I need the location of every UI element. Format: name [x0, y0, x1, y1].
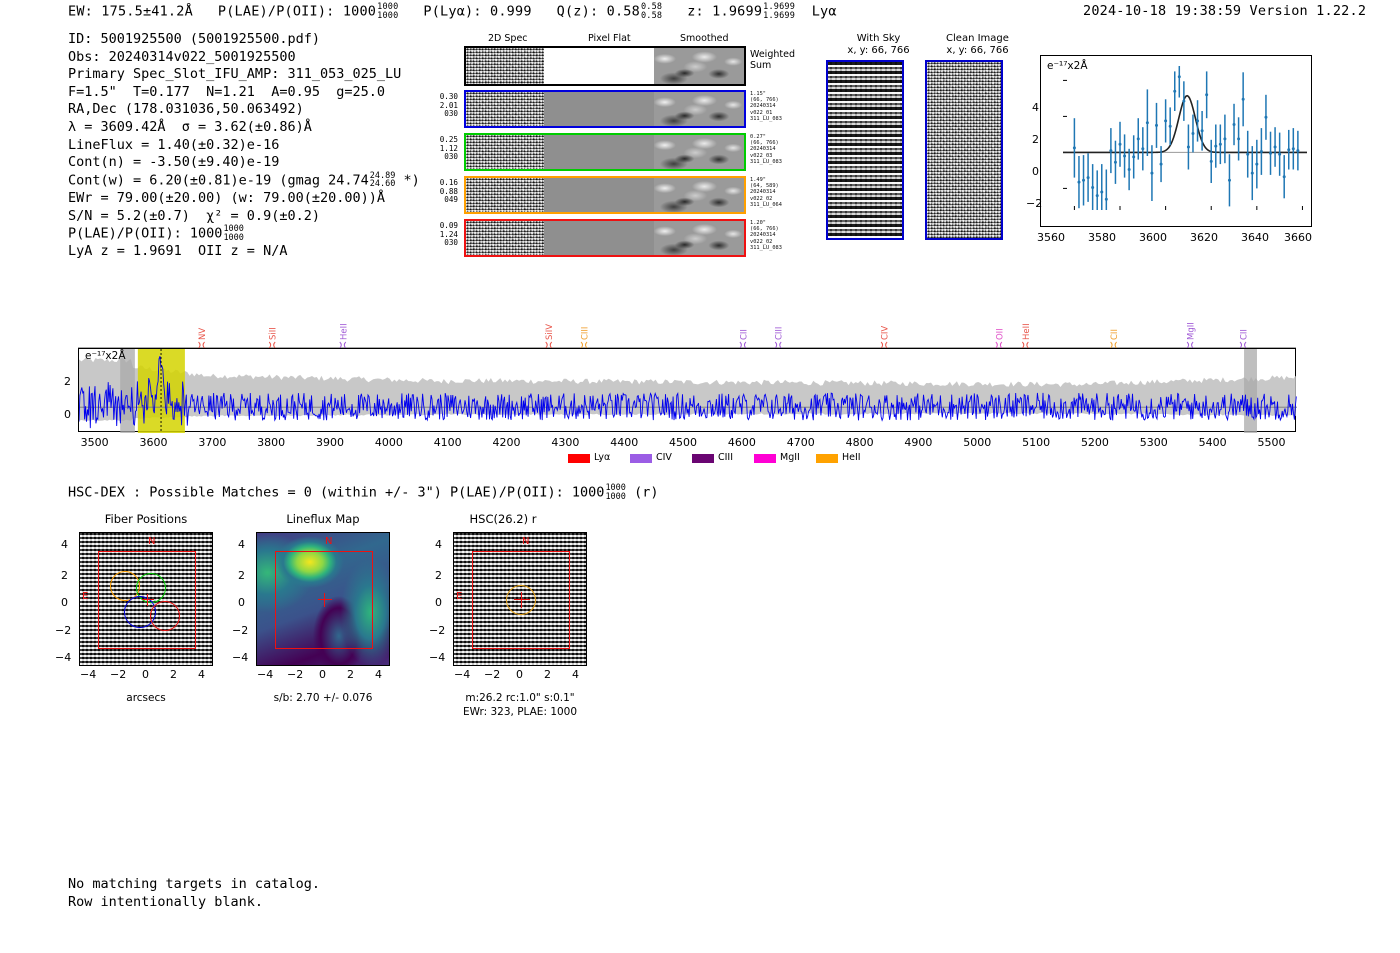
legend-label-MgII: MgII — [780, 452, 800, 463]
fiber-row-strip-1 — [464, 90, 746, 128]
with-sky-title: With Skyx, y: 66, 766 — [826, 33, 931, 57]
panel-1-ytick-0: 4 — [238, 538, 245, 551]
info-plae-fraction: 10001000 — [223, 225, 243, 242]
full-spectrum-xtick-5300: 5300 — [1140, 436, 1168, 449]
full-spectrum-xtick-4600: 4600 — [728, 436, 756, 449]
fiber-row-meta-1: 1.15"(66, 766)20240314v022_01311_LU_083 — [750, 91, 782, 122]
fiber-row-weights-3: 0.160.88049 — [428, 179, 458, 205]
footer-line-1: No matching targets in catalog. — [68, 876, 320, 894]
info-line-cont-w: Cont(w) = 6.20(±0.81)e-19 (gmag 24.7424.… — [68, 172, 420, 190]
fiber-positions-caption: arcsecs — [79, 692, 213, 705]
svg-text:OII: OII — [995, 328, 1005, 340]
fiber-1-smoothed-image — [654, 92, 744, 126]
info-line-radec: RA,Dec (178.031036,50.063492) — [68, 101, 420, 119]
panel-0-xtick-2: 0 — [142, 668, 149, 681]
svg-text:CIII: CIII — [581, 327, 591, 340]
full-spectrum-xtick-3800: 3800 — [257, 436, 285, 449]
full-spectrum-xtick-4200: 4200 — [493, 436, 521, 449]
info-line-id: ID: 5001925500 (5001925500.pdf) — [68, 31, 420, 49]
line-fit-xtick-3660: 3660 — [1284, 231, 1312, 244]
full-spectrum-xtick-5400: 5400 — [1199, 436, 1227, 449]
panel-1-xtick-0: −4 — [257, 668, 273, 681]
full-spectrum-xtick-row: 3500360037003800390040004100420043004400… — [78, 436, 1296, 452]
full-spectrum-xtick-3700: 3700 — [198, 436, 226, 449]
spec2d-title-smoothed: Smoothed — [680, 33, 729, 44]
gmag-fraction: 24.8924.60 — [370, 172, 396, 189]
svg-text:CII: CII — [739, 329, 749, 340]
panel-1-xtick-3: 2 — [347, 668, 354, 681]
fiber-positions-crosshair-v — [147, 594, 148, 606]
line-fit-xtick-3560: 3560 — [1037, 231, 1065, 244]
header-plae-fraction: 10001000 — [377, 3, 398, 20]
panel-2-ytick-1: 2 — [435, 569, 442, 582]
fiber-1-2dspec-image — [466, 92, 544, 126]
fiber-3-2dspec-image — [466, 178, 544, 212]
legend-label-HeII: HeII — [842, 452, 861, 463]
fiber-row-meta-3: 1.49"(64, 589)20240314v022_02311_LU_064 — [750, 177, 782, 208]
with-sky-image — [826, 60, 904, 240]
weighted-sum-pixelflat-image — [544, 48, 654, 84]
svg-text:CIII: CIII — [775, 327, 785, 340]
header-qz-fraction: 0.580.58 — [641, 3, 662, 20]
fiber-3-pixelflat-image — [544, 178, 654, 212]
hsc-dex-summary-text: HSC-DEX : Possible Matches = 0 (within +… — [68, 485, 604, 501]
weighted-sum-label: WeightedSum — [750, 49, 795, 71]
panel-0-ytick-1: 2 — [61, 569, 68, 582]
hsc-r-caption-line1: m:26.2 rc:1.0" s:0.1" — [443, 692, 597, 705]
hsc-dex-summary: HSC-DEX : Possible Matches = 0 (within +… — [68, 484, 658, 501]
hsc-r-xtick-row: −4−2024 — [453, 668, 587, 684]
legend-label-CIII: CIII — [718, 452, 733, 463]
info-line-ewr: EWr = 79.00(±20.00) (w: 79.00(±20.00))Å — [68, 190, 420, 208]
panel-0-ytick-0: 4 — [61, 538, 68, 551]
header-plya: P(Lyα): 0.999 — [423, 4, 531, 20]
clean-image-image — [925, 60, 1003, 240]
full-spectrum-ytick-2: 2 — [64, 375, 71, 388]
fiber-row-weights-4: 0.091.24030 — [428, 222, 458, 248]
legend-label-CIV: CIV — [656, 452, 672, 463]
fiber-row-strip-2 — [464, 133, 746, 171]
full-spectrum-xtick-5500: 5500 — [1257, 436, 1285, 449]
weighted-sum-2dspec-image — [466, 48, 544, 84]
info-line-sn: S/N = 5.2(±0.7) χ² = 0.9(±0.2) — [68, 208, 420, 226]
full-spectrum-xtick-4800: 4800 — [846, 436, 874, 449]
legend-swatch-MgII — [754, 454, 776, 463]
full-spectrum-unit-label: e⁻¹⁷x2Å — [85, 350, 126, 362]
fiber-1-pixelflat-image — [544, 92, 654, 126]
panel-1-xtick-4: 4 — [375, 668, 382, 681]
svg-text:MgII: MgII — [1187, 322, 1197, 340]
header-ew: EW: 175.5±41.2Å — [68, 4, 193, 20]
panel-1-ytick-1: 2 — [238, 569, 245, 582]
full-spectrum-xtick-4500: 4500 — [669, 436, 697, 449]
hsc-r-crosshair-v — [521, 592, 522, 608]
line-fit-ytick-0: 0 — [1032, 165, 1039, 178]
fiber-2-2dspec-image — [466, 135, 544, 169]
panel-0-ytick-2: 0 — [61, 596, 68, 609]
svg-text:CII: CII — [1240, 329, 1250, 340]
fiber-positions-ytick-row: 420−2−4 — [55, 532, 77, 666]
weighted-sum-smoothed-image — [654, 48, 744, 84]
header-z-fraction: 1.96991.9699 — [763, 3, 795, 20]
lineflux-map-title: Lineflux Map — [240, 512, 406, 526]
full-spectrum-xtick-3600: 3600 — [139, 436, 167, 449]
full-spectrum-xtick-4100: 4100 — [434, 436, 462, 449]
svg-text:CIV: CIV — [881, 326, 891, 340]
panel-0-xtick-1: −2 — [110, 668, 126, 681]
timestamp-version: 2024-10-18 19:38:59 Version 1.22.2 — [1083, 3, 1366, 19]
fiber-positions-title: Fiber Positions — [63, 512, 229, 526]
lineflux-map-xtick-row: −4−2024 — [256, 668, 390, 684]
line-fit-ytick-4: 4 — [1032, 101, 1039, 114]
fiber-2-pixelflat-image — [544, 135, 654, 169]
full-spectrum-xtick-3900: 3900 — [316, 436, 344, 449]
full-spectrum-xtick-5200: 5200 — [1081, 436, 1109, 449]
full-spectrum-xtick-5100: 5100 — [1022, 436, 1050, 449]
full-spectrum-xtick-4300: 4300 — [551, 436, 579, 449]
fiber-2-smoothed-image — [654, 135, 744, 169]
svg-text:SiIV: SiIV — [545, 324, 555, 340]
panel-0-xtick-0: −4 — [80, 668, 96, 681]
panel-1-xtick-2: 0 — [319, 668, 326, 681]
lineflux-map-crosshair-v — [324, 593, 325, 607]
lineflux-map-north-label: N — [325, 536, 332, 547]
panel-2-ytick-3: −2 — [429, 624, 445, 637]
hsc-r-title: HSC(26.2) r — [420, 512, 586, 526]
info-line-wavelength: λ = 3609.42Å σ = 3.62(±0.86)Å — [68, 119, 420, 137]
panel-2-ytick-2: 0 — [435, 596, 442, 609]
line-fit-chart: e⁻¹⁷x2Å — [1040, 55, 1312, 227]
line-fit-xtick-3620: 3620 — [1190, 231, 1218, 244]
clean-image-title: Clean Imagex, y: 66, 766 — [920, 33, 1035, 57]
panel-1-ytick-4: −4 — [232, 651, 248, 664]
info-line-redshifts: LyA z = 1.9691 OII z = N/A — [68, 243, 420, 261]
header-z-type: Lyα — [812, 4, 837, 20]
full-spectrum-xtick-4400: 4400 — [610, 436, 638, 449]
emission-line-marker-band: NVSiIIHeIISiIVCIIICIICIIICIVOIIHeIICIIMg… — [78, 310, 1296, 350]
hsc-r-east-label: E — [456, 591, 462, 602]
fiber-3-smoothed-image — [654, 178, 744, 212]
lineflux-map-ytick-row: 420−2−4 — [232, 532, 254, 666]
panel-0-xtick-3: 2 — [170, 668, 177, 681]
line-fit-plot-area — [1041, 56, 1313, 228]
panel-1-ytick-2: 0 — [238, 596, 245, 609]
fiber-row-strip-3 — [464, 176, 746, 214]
fiber-4-2dspec-image — [466, 221, 544, 255]
spec2d-title-pixelflat: Pixel Flat — [588, 33, 631, 44]
fiber-positions-north-label: N — [148, 536, 155, 547]
panel-2-xtick-0: −4 — [454, 668, 470, 681]
lineflux-map-caption: s/b: 2.70 +/- 0.076 — [246, 692, 400, 705]
full-spectrum-xtick-4700: 4700 — [787, 436, 815, 449]
full-spectrum-plot-area — [79, 349, 1297, 433]
hsc-r-image: N E — [453, 532, 587, 666]
svg-text:SiII: SiII — [269, 327, 279, 340]
footer-notes: No matching targets in catalog. Row inte… — [68, 876, 320, 911]
fiber-4-smoothed-image — [654, 221, 744, 255]
fiber-row-meta-4: 1.20"(66, 766)20240314v022_02311_LU_083 — [750, 220, 782, 251]
object-info-block: ID: 5001925500 (5001925500.pdf) Obs: 202… — [68, 31, 420, 261]
line-fit-ytick-2: 2 — [1032, 133, 1039, 146]
svg-text:HeII: HeII — [1022, 323, 1032, 340]
legend-swatch-Lyα — [568, 454, 590, 463]
hsc-r-ytick-row: 420−2−4 — [429, 532, 451, 666]
fiber-row-weights-1: 0.302.01030 — [428, 93, 458, 119]
footer-line-2: Row intentionally blank. — [68, 894, 320, 912]
info-line-seeing: F=1.5" T=0.177 N=1.21 A=0.95 g=25.0 — [68, 84, 420, 102]
panel-2-xtick-4: 4 — [572, 668, 579, 681]
legend-swatch-HeII — [816, 454, 838, 463]
panel-1-ytick-3: −2 — [232, 624, 248, 637]
panel-0-ytick-4: −4 — [55, 651, 71, 664]
hsc-r-north-label: N — [522, 536, 529, 547]
line-fit-xtick-3600: 3600 — [1139, 231, 1167, 244]
info-line-primary-spec: Primary Spec_Slot_IFU_AMP: 311_053_025_L… — [68, 66, 420, 84]
panel-2-xtick-1: −2 — [484, 668, 500, 681]
panel-2-xtick-2: 0 — [516, 668, 523, 681]
header-summary-line: EW: 175.5±41.2Å P(LAE)/P(OII): 100010001… — [68, 3, 837, 20]
lineflux-map-image: N — [256, 532, 390, 666]
spec2d-title-2dspec: 2D Spec — [488, 33, 528, 44]
info-line-plae: P(LAE)/P(OII): 100010001000 — [68, 225, 420, 243]
fiber-row-strip-4 — [464, 219, 746, 257]
header-qz-label: Q(z): 0.58 — [557, 4, 640, 20]
line-fit-xtick-3580: 3580 — [1088, 231, 1116, 244]
panel-2-ytick-4: −4 — [429, 651, 445, 664]
header-z-label: z: 1.9699 — [687, 4, 762, 20]
svg-text:CII: CII — [1110, 329, 1120, 340]
line-fit-ytick-minus2: −2 — [1026, 197, 1042, 210]
svg-text:HeII: HeII — [339, 323, 349, 340]
fiber-circle-4 — [150, 601, 180, 631]
hsc-dex-summary-suffix: (r) — [634, 485, 658, 501]
fiber-row-meta-2: 0.27"(66, 766)20240314v022_03311_LU_083 — [750, 134, 782, 165]
legend-swatch-CIV — [630, 454, 652, 463]
fiber-positions-east-label: E — [82, 591, 88, 602]
svg-text:NV: NV — [198, 328, 208, 340]
panel-0-ytick-3: −2 — [55, 624, 71, 637]
line-fit-xtick-3640: 3640 — [1241, 231, 1269, 244]
panel-2-ytick-0: 4 — [435, 538, 442, 551]
info-line-lineflux: LineFlux = 1.40(±0.32)e-16 — [68, 137, 420, 155]
fiber-positions-xtick-row: −4−2024 — [79, 668, 213, 684]
header-plae-label: P(LAE)/P(OII): 1000 — [218, 4, 376, 20]
panel-0-xtick-4: 4 — [198, 668, 205, 681]
full-spectrum-xtick-3500: 3500 — [81, 436, 109, 449]
legend-label-Lyα: Lyα — [594, 452, 610, 463]
panel-2-xtick-3: 2 — [544, 668, 551, 681]
full-spectrum-xtick-4000: 4000 — [375, 436, 403, 449]
hsc-r-caption-line2: EWr: 323, PLAE: 1000 — [443, 706, 597, 719]
spectrum-legend: LyαCIVCIIIMgIIHeII — [568, 452, 868, 466]
legend-swatch-CIII — [692, 454, 714, 463]
fiber-4-pixelflat-image — [544, 221, 654, 255]
twod-spectrum-group: 2D Spec Pixel Flat Smoothed WeightedSum … — [428, 33, 768, 255]
full-spectrum-xtick-4900: 4900 — [904, 436, 932, 449]
full-spectrum-chart: e⁻¹⁷x2Å — [78, 348, 1296, 432]
full-spectrum-xtick-5000: 5000 — [963, 436, 991, 449]
hsc-plae-fraction: 10001000 — [605, 484, 625, 501]
info-line-cont-n: Cont(n) = -3.50(±9.40)e-19 — [68, 154, 420, 172]
fiber-row-weights-2: 0.251.12030 — [428, 136, 458, 162]
fiber-positions-image: N E — [79, 532, 213, 666]
full-spectrum-ytick-0: 0 — [64, 408, 71, 421]
panel-1-xtick-1: −2 — [287, 668, 303, 681]
info-line-obs: Obs: 20240314v022_5001925500 — [68, 49, 420, 67]
weighted-sum-strip — [464, 46, 746, 86]
